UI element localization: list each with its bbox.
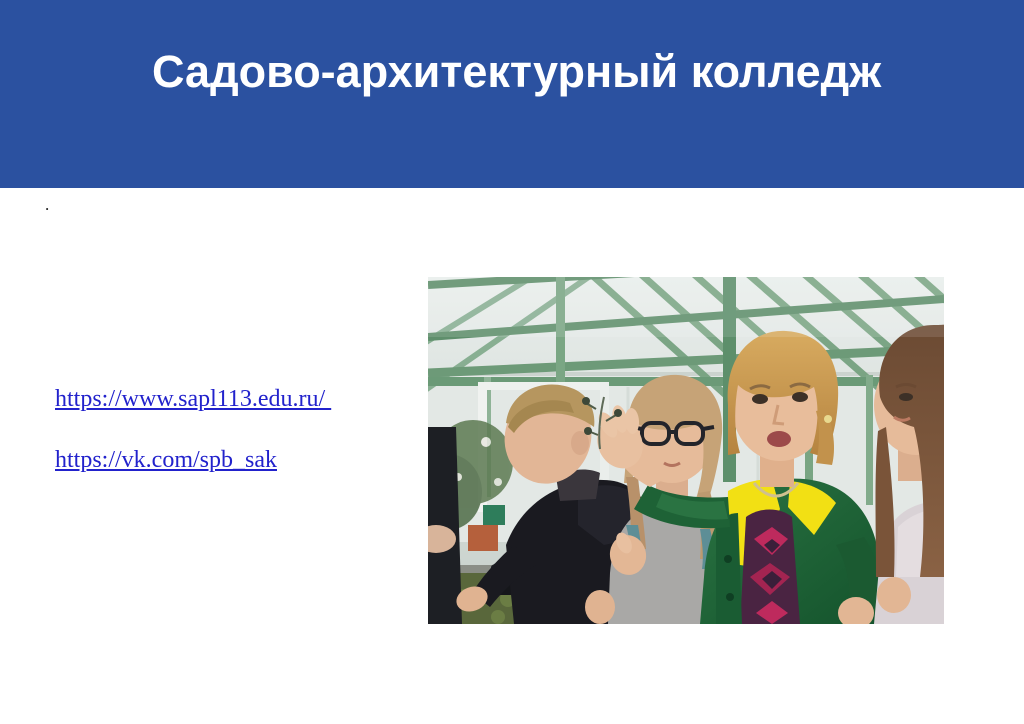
link-vk-community[interactable]: https://vk.com/spb_sak [55,447,277,473]
title-banner: Садово-архитектурный колледж [0,0,1024,188]
student-girl-right [874,321,944,624]
link-college-website[interactable]: https://www.sapl113.edu.ru/ [55,386,331,412]
bullet-marker: . [45,196,49,213]
list-item: https://www.sapl113.edu.ru/ [55,385,385,416]
page-title: Садово-архитектурный колледж [152,44,892,100]
greenhouse-photo-graphic [428,277,944,624]
links-block: https://www.sapl113.edu.ru/ https://vk.c… [55,385,385,477]
list-item: https://vk.com/spb_sak [55,446,385,477]
greenhouse-classroom-photo [428,277,944,624]
